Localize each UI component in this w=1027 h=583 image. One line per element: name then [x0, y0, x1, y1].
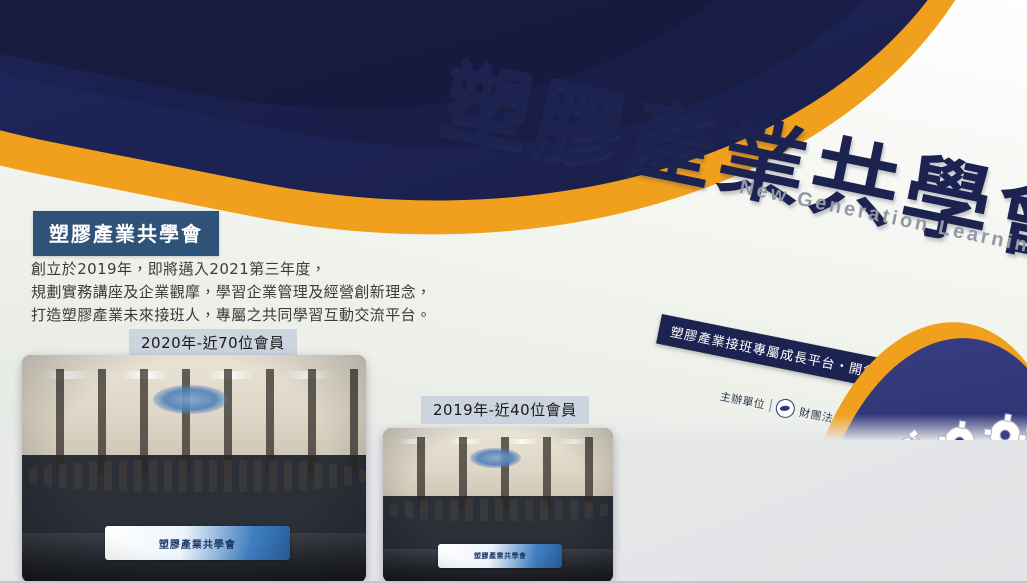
photo-caption-2020: 2020年-近70位會員 — [129, 329, 297, 357]
photo-caption-2019: 2019年-近40位會員 — [421, 396, 589, 424]
group-photo-2019[interactable]: 塑膠產業共學會 — [383, 428, 613, 583]
description-line-3: 打造塑膠產業未來接班人，專屬之共同學習互動交流平台。 — [31, 304, 431, 327]
organizer-divider — [769, 399, 773, 412]
description-line-2: 規劃實務講座及企業觀摩，學習企業管理及經營創新理念， — [31, 281, 431, 304]
description-paragraph: 創立於2019年，即將邁入2021第三年度， 規劃實務講座及企業觀摩，學習企業管… — [31, 258, 431, 327]
slide-canvas: 塑膠產業共學會 New Generation Learning Plan 塑膠產… — [0, 0, 1027, 583]
section-title-badge: 塑膠產業共學會 — [33, 211, 219, 256]
description-line-1: 創立於2019年，即將邁入2021第三年度， — [31, 258, 431, 281]
group-photo-2020[interactable]: 塑膠產業共學會 — [22, 355, 366, 583]
photo-scene-2020: 塑膠產業共學會 — [22, 355, 366, 583]
photo-scene-2019: 塑膠產業共學會 — [383, 428, 613, 583]
photo-vignette-2019 — [383, 428, 613, 583]
photo-vignette-2020 — [22, 355, 366, 583]
